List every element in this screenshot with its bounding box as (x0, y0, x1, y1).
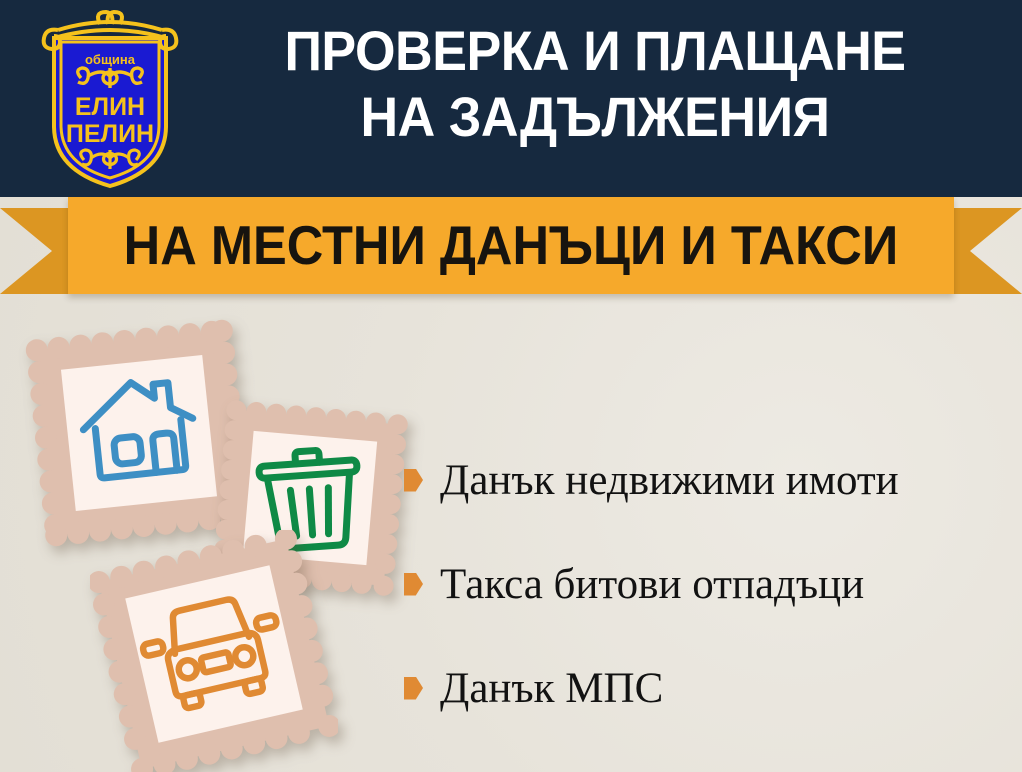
list-item[interactable]: Такса битови отпадъци (404, 532, 1014, 636)
logo-line-2: ПЕЛИН (66, 120, 154, 148)
list-item[interactable]: Данък МПС (404, 636, 1014, 740)
ribbon-banner: НА МЕСТНИ ДАНЪЦИ И ТАКСИ (0, 196, 1022, 306)
list-item-label: Такса битови отпадъци (440, 563, 864, 606)
logo-line-small: община (85, 52, 136, 67)
logo-line-1: ЕЛИН (75, 93, 145, 121)
page-title: ПРОВЕРКА И ПЛАЩАНЕ НА ЗАДЪЛЖЕНИЯ (209, 18, 981, 149)
arrow-bullet-icon (404, 469, 423, 492)
tax-list: Данък недвижими имоти Такса битови отпад… (404, 428, 1014, 740)
ribbon-body: НА МЕСТНИ ДАНЪЦИ И ТАКСИ (68, 196, 954, 294)
municipality-logo: община ЕЛИН ПЕЛИН (36, 8, 184, 190)
list-item[interactable]: Данък недвижими имоти (404, 428, 1014, 532)
list-item-label: Данък МПС (440, 667, 663, 710)
arrow-bullet-icon (404, 573, 423, 596)
arrow-bullet-icon (404, 677, 423, 700)
stamp-car (90, 530, 338, 772)
ribbon-label: НА МЕСТНИ ДАНЪЦИ И ТАКСИ (124, 213, 899, 277)
poster-root: ПРОВЕРКА И ПЛАЩАНЕ НА ЗАДЪЛЖЕНИЯ община (0, 0, 1022, 772)
list-item-label: Данък недвижими имоти (440, 459, 899, 502)
